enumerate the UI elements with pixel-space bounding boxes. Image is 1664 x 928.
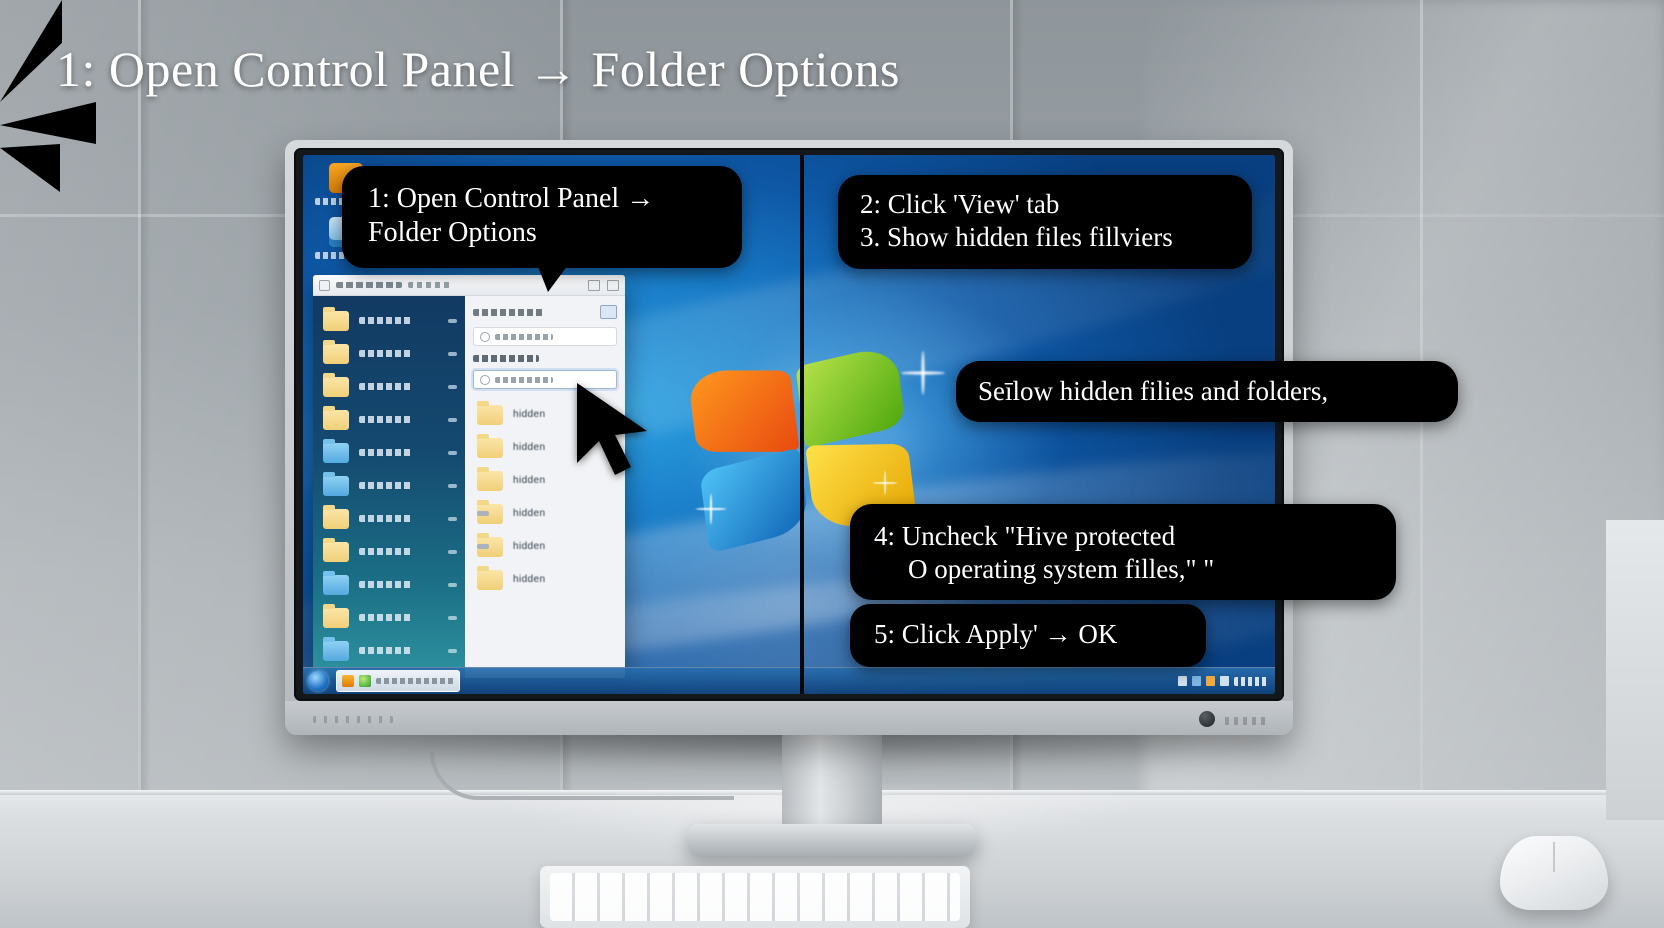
nav-item-meta xyxy=(448,451,457,455)
list-item-meta xyxy=(477,511,489,516)
section-subtitle xyxy=(473,355,539,362)
explorer-app-icon xyxy=(319,280,330,291)
nav-item-meta xyxy=(448,352,457,356)
monitor-cable xyxy=(430,752,734,800)
mouse-seam xyxy=(1553,842,1555,872)
callout-click-apply-ok: 5: Click Apply' → OK xyxy=(850,604,1206,667)
keyboard-keys xyxy=(550,873,960,921)
screen-split-line xyxy=(800,155,804,694)
view-toggle-icon[interactable] xyxy=(600,305,617,319)
nav-item[interactable] xyxy=(313,469,465,502)
taskbar-button-label xyxy=(376,678,454,684)
callout-click-view-tab: 2: Click 'View' tab 3. Show hidden files… xyxy=(838,175,1252,269)
search-icon xyxy=(480,332,490,342)
nav-item-meta xyxy=(448,517,457,521)
folder-icon xyxy=(323,476,349,496)
list-item-meta xyxy=(477,544,489,549)
nav-item[interactable] xyxy=(313,502,465,535)
page-title: 1: Open Control Panel → Folder Options xyxy=(56,40,900,98)
search-input-placeholder xyxy=(495,377,553,383)
monitor-chin xyxy=(285,701,1293,735)
nav-item-meta xyxy=(448,484,457,488)
list-item[interactable]: hidden xyxy=(473,530,617,563)
folder-icon xyxy=(323,542,349,562)
nav-item-label xyxy=(359,383,412,390)
list-item-label: hidden xyxy=(513,574,545,585)
nav-item-label xyxy=(359,515,412,522)
mouse-cursor-icon xyxy=(573,381,655,477)
nav-item[interactable] xyxy=(313,601,465,634)
content-header-label xyxy=(473,309,545,316)
taskbar[interactable] xyxy=(303,667,1275,694)
tray-icon[interactable] xyxy=(1220,676,1229,686)
list-item-label: hidden xyxy=(513,475,545,486)
mouse xyxy=(1500,836,1608,910)
monitor-stand-base xyxy=(687,824,977,856)
callout-line: 5: Click Apply' → OK xyxy=(874,618,1184,651)
nav-item-label xyxy=(359,581,412,588)
nav-item-meta xyxy=(448,616,457,620)
side-panel xyxy=(1606,520,1664,820)
window-controls xyxy=(588,280,619,291)
maximize-button[interactable] xyxy=(607,280,619,291)
folder-icon xyxy=(323,443,349,463)
nav-item-meta xyxy=(448,319,457,323)
callout-uncheck-protected-os-files: 4: Uncheck "Hive protected O operating s… xyxy=(850,504,1396,600)
nav-item-label xyxy=(359,647,412,654)
content-header xyxy=(473,305,617,319)
nav-item[interactable] xyxy=(313,337,465,370)
monitor-brand-mark xyxy=(313,716,393,723)
list-item-label: hidden xyxy=(513,409,545,420)
folder-icon xyxy=(323,575,349,595)
nav-item[interactable] xyxy=(313,436,465,469)
minimize-button[interactable] xyxy=(588,280,600,291)
windows-logo-pane-orange xyxy=(687,370,800,451)
search-icon xyxy=(480,375,490,385)
start-button[interactable] xyxy=(308,671,328,691)
nav-item[interactable] xyxy=(313,568,465,601)
callout-line: 4: Uncheck "Hive protected xyxy=(874,520,1374,553)
breadcrumb[interactable] xyxy=(336,282,402,288)
callout-line: 3. Show hidden files fillviers xyxy=(860,221,1232,254)
tray-icon[interactable] xyxy=(1178,676,1187,686)
folder-icon xyxy=(323,509,349,529)
nav-item-label xyxy=(359,482,412,489)
tray-icon[interactable] xyxy=(1192,676,1201,686)
folder-icon xyxy=(323,641,349,661)
path-field-value xyxy=(495,334,553,340)
taskbar-app-icon xyxy=(342,675,354,687)
nav-item-label xyxy=(359,350,412,357)
breadcrumb-segment[interactable] xyxy=(408,282,450,288)
monitor-stand-neck xyxy=(782,735,882,830)
nav-item-label xyxy=(359,614,412,621)
callout-line: Seīlow hidden filies and folders, xyxy=(978,375,1436,408)
taskbar-explorer-button[interactable] xyxy=(336,670,460,692)
explorer-body: hidden hidden hidden hidden hidden hidde… xyxy=(313,296,625,678)
nav-item-meta xyxy=(448,550,457,554)
nav-item-meta xyxy=(448,418,457,422)
list-item-label: hidden xyxy=(513,442,545,453)
screenshot-stage: hidden hidden hidden hidden hidden hidde… xyxy=(0,0,1664,928)
nav-item-meta xyxy=(448,583,457,587)
callout-line: O operating system filles," " xyxy=(874,553,1374,586)
taskbar-app-icon xyxy=(359,675,371,687)
nav-item-label xyxy=(359,449,412,456)
callout-open-control-panel: 1: Open Control Panel → Folder Options xyxy=(342,166,742,268)
list-item-label: hidden xyxy=(513,508,545,519)
nav-item[interactable] xyxy=(313,634,465,667)
list-item-label: hidden xyxy=(513,541,545,552)
folder-icon xyxy=(477,471,503,491)
sparkle-icon xyxy=(873,471,897,495)
folder-icon xyxy=(323,608,349,628)
nav-item[interactable] xyxy=(313,304,465,337)
monitor-model-label xyxy=(1225,717,1269,725)
callout-line: 2: Click 'View' tab xyxy=(860,188,1232,221)
folder-icon xyxy=(323,410,349,430)
callout-line: 1: Open Control Panel → xyxy=(368,182,720,216)
nav-item[interactable] xyxy=(313,370,465,403)
nav-item[interactable] xyxy=(313,403,465,436)
nav-item-label xyxy=(359,317,412,324)
path-field[interactable] xyxy=(473,327,617,346)
folder-icon xyxy=(323,377,349,397)
tray-icon[interactable] xyxy=(1206,676,1215,686)
nav-item[interactable] xyxy=(313,535,465,568)
folder-icon xyxy=(323,344,349,364)
nav-item-label xyxy=(359,416,412,423)
nav-item-meta xyxy=(448,649,457,653)
callout-line: Folder Options xyxy=(368,216,720,250)
list-item[interactable]: hidden xyxy=(473,563,617,596)
nav-item-label xyxy=(359,548,412,555)
folder-icon xyxy=(323,311,349,331)
system-tray[interactable] xyxy=(1178,676,1275,686)
wall-tile-shadow xyxy=(141,0,151,820)
nav-item-meta xyxy=(448,385,457,389)
keyboard xyxy=(540,866,970,928)
folder-icon xyxy=(477,570,503,590)
explorer-nav-pane xyxy=(313,296,465,678)
folder-icon xyxy=(477,438,503,458)
sparkle-icon xyxy=(901,351,945,395)
monitor-power-button[interactable] xyxy=(1199,711,1215,727)
list-item[interactable]: hidden xyxy=(473,497,617,530)
explorer-content-pane: hidden hidden hidden hidden hidden hidde… xyxy=(465,296,625,678)
folder-icon xyxy=(477,405,503,425)
callout-show-hidden-files-folders: Seīlow hidden filies and folders, xyxy=(956,361,1458,422)
tray-clock[interactable] xyxy=(1234,677,1268,686)
sparkle-icon xyxy=(696,494,727,525)
